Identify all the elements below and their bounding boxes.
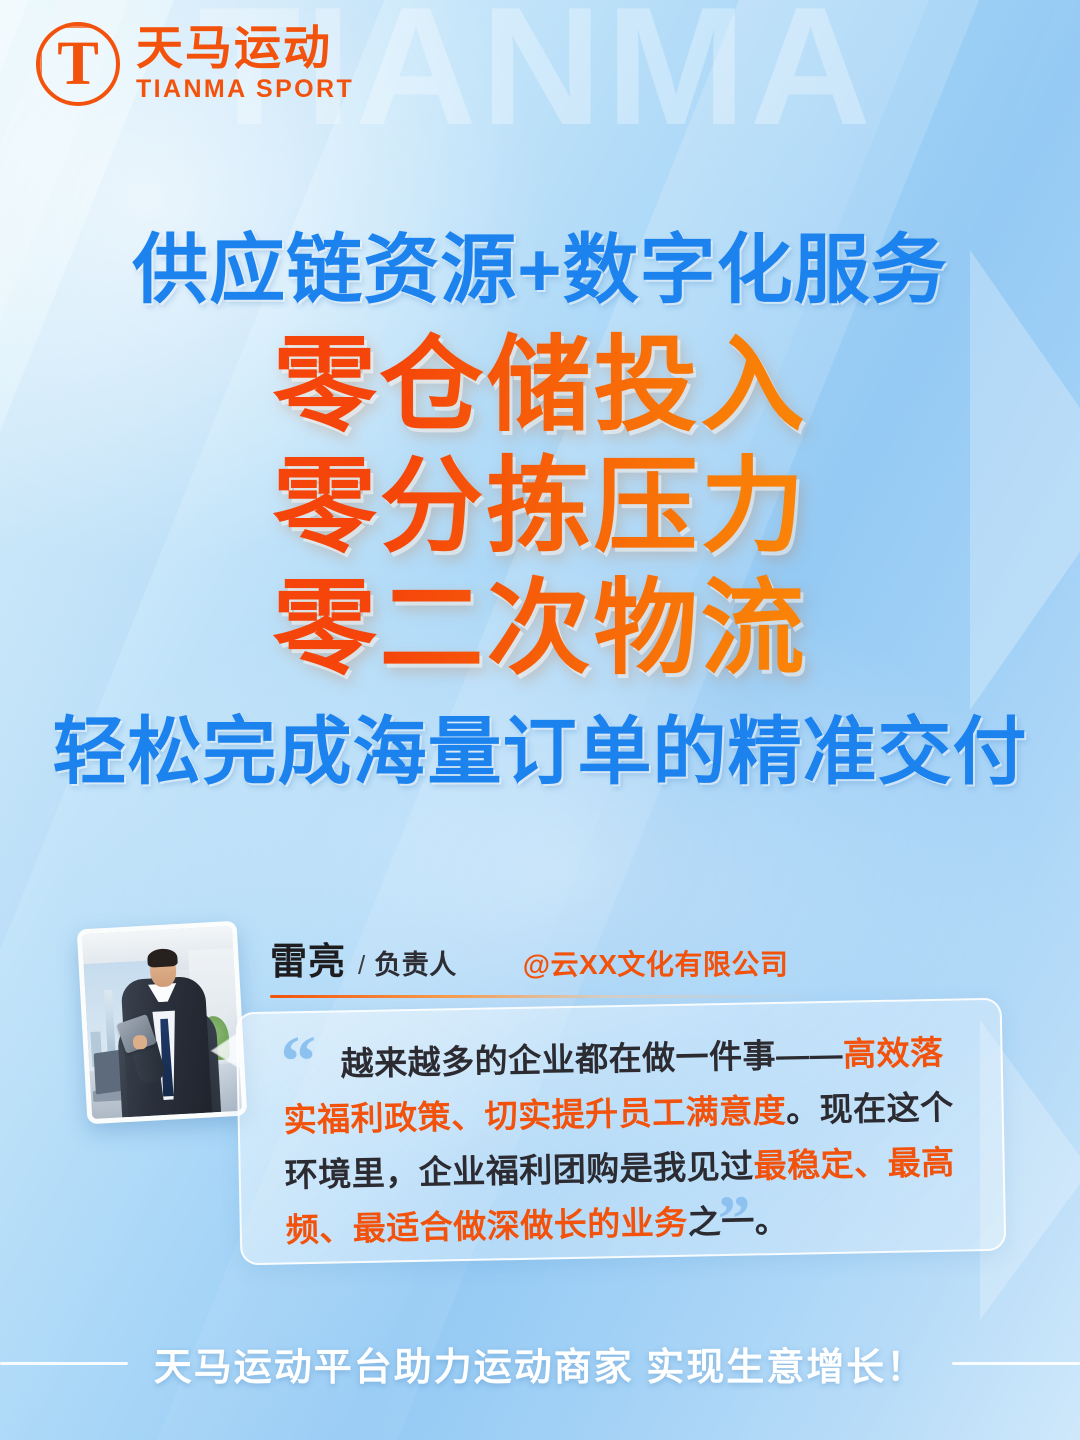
attribution-separator: / xyxy=(358,950,365,981)
headline-zero-list: 零仓储投入 零分拣压力 零二次物流 xyxy=(0,326,1080,691)
brand-logo-text: 天马运动 TIANMA SPORT xyxy=(136,24,354,105)
headline-line: 零分拣压力 xyxy=(0,447,1080,569)
quote-close-icon: ” xyxy=(717,1187,751,1254)
testimonial-role: 负责人 xyxy=(374,943,457,982)
testimonial-avatar-photo xyxy=(77,921,248,1125)
testimonial-name: 雷亮 xyxy=(270,931,346,985)
headline-subline: 轻松完成海量订单的精准交付 xyxy=(0,713,1080,791)
footer-rule-left xyxy=(0,1362,128,1365)
tianma-logo-icon: T xyxy=(36,22,120,106)
photo-hand xyxy=(133,1035,147,1051)
headline-line: 零仓储投入 xyxy=(0,326,1080,448)
photo-scene xyxy=(82,926,242,1119)
testimonial-company: @云XX文化有限公司 xyxy=(523,943,789,983)
brand-name-en: TIANMA SPORT xyxy=(136,74,354,104)
attribution-row: 雷亮 / 负责人 @云XX文化有限公司 xyxy=(270,931,830,985)
footer-rule-right xyxy=(952,1362,1080,1365)
footer-slogan: 天马运动平台助力运动商家 实现生意增长！ xyxy=(154,1336,927,1391)
brand-logo: T 天马运动 TIANMA SPORT xyxy=(36,22,354,106)
headline-kicker: 供应链资源+数字化服务 xyxy=(0,232,1080,310)
promo-poster: TIANMA T 天马运动 TIANMA SPORT 供应链资源+数字化服务 零… xyxy=(0,0,1080,1440)
headline-block: 供应链资源+数字化服务 零仓储投入 零分拣压力 零二次物流 轻松完成海量订单的精… xyxy=(0,232,1080,790)
logo-letter: T xyxy=(57,33,98,95)
quote-plain: 越来越多的企业都在做一件事—— xyxy=(340,1036,843,1083)
footer-slogan-bar: 天马运动平台助力运动商家 实现生意增长！ xyxy=(0,1336,1080,1391)
headline-line: 零二次物流 xyxy=(0,569,1080,691)
testimonial-block: 雷亮 / 负责人 @云XX文化有限公司 “ 越来越多的企业都在做一件事——高效落… xyxy=(0,905,1080,1305)
attribution-underline xyxy=(270,995,815,998)
bubble-tail xyxy=(212,1032,241,1069)
testimonial-quote-text: 越来越多的企业都在做一件事——高效落实福利政策、切实提升员工满意度。现在这个环境… xyxy=(282,1024,974,1257)
testimonial-quote-bubble: “ 越来越多的企业都在做一件事——高效落实福利政策、切实提升员工满意度。现在这个… xyxy=(236,998,1007,1266)
testimonial-attribution: 雷亮 / 负责人 @云XX文化有限公司 xyxy=(270,931,830,998)
brand-name-cn: 天马运动 xyxy=(136,24,354,73)
